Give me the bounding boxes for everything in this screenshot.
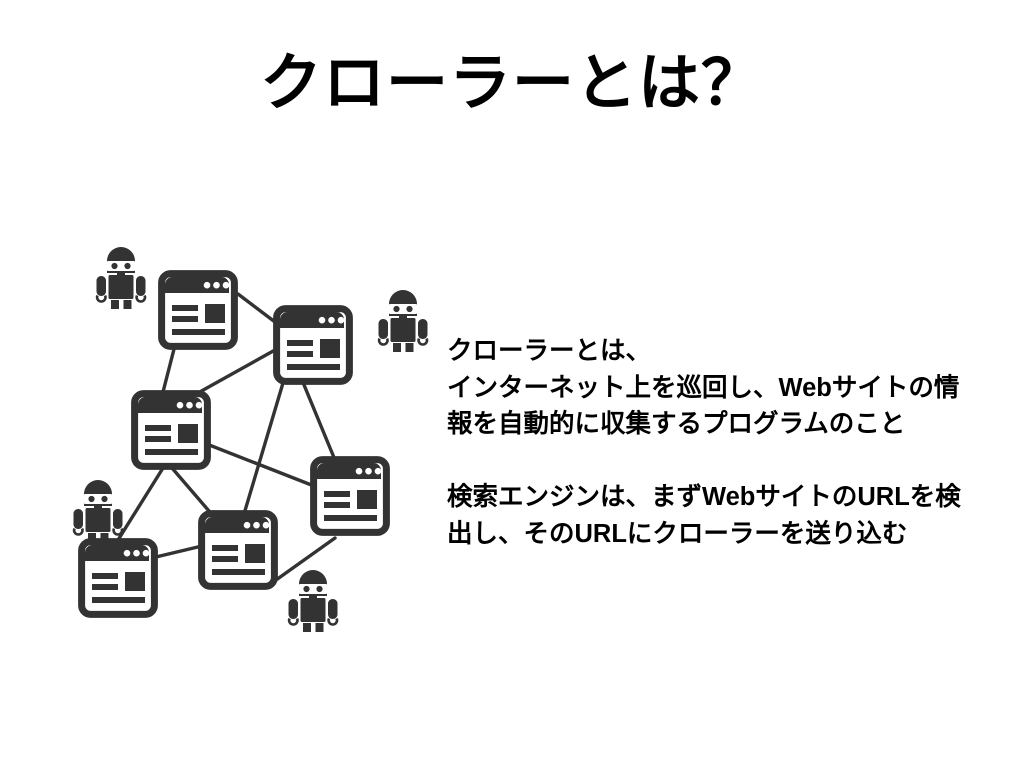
robot-crawler-icon bbox=[379, 290, 428, 352]
browser-window-icon bbox=[162, 274, 235, 347]
edge-w2-w4 bbox=[302, 380, 335, 460]
edge-w2-w5 bbox=[244, 383, 283, 514]
browser-window-icon bbox=[82, 542, 155, 615]
robot-crawler-icon bbox=[74, 480, 123, 542]
slide-canvas: クローラーとは？ bbox=[0, 0, 1024, 768]
browser-window-icon bbox=[277, 309, 350, 382]
body-text-block: クローラーとは、 インターネット上を巡回し、Webサイトの情 報を自動的に収集す… bbox=[447, 333, 987, 553]
paragraph-definition: クローラーとは、 インターネット上を巡回し、Webサイトの情 報を自動的に収集す… bbox=[447, 333, 987, 443]
robot-crawler-icon bbox=[97, 247, 146, 309]
browser-window-icon bbox=[135, 394, 208, 467]
network-diagram-svg bbox=[60, 228, 440, 640]
browser-window-icon bbox=[314, 460, 387, 533]
edge-w3-w6 bbox=[118, 468, 163, 540]
paragraph-search-engine: 検索エンジンは、まずWebサイトのURLを検 出し、そのURLにクローラーを送り… bbox=[447, 479, 987, 552]
edge-w1-w2 bbox=[238, 294, 275, 322]
robot-crawler-icon bbox=[289, 570, 338, 632]
page-title: クローラーとは？ bbox=[0, 48, 1024, 119]
browser-window-icon bbox=[202, 514, 275, 587]
crawler-network-figure bbox=[60, 228, 440, 640]
network-nodes bbox=[82, 274, 387, 615]
